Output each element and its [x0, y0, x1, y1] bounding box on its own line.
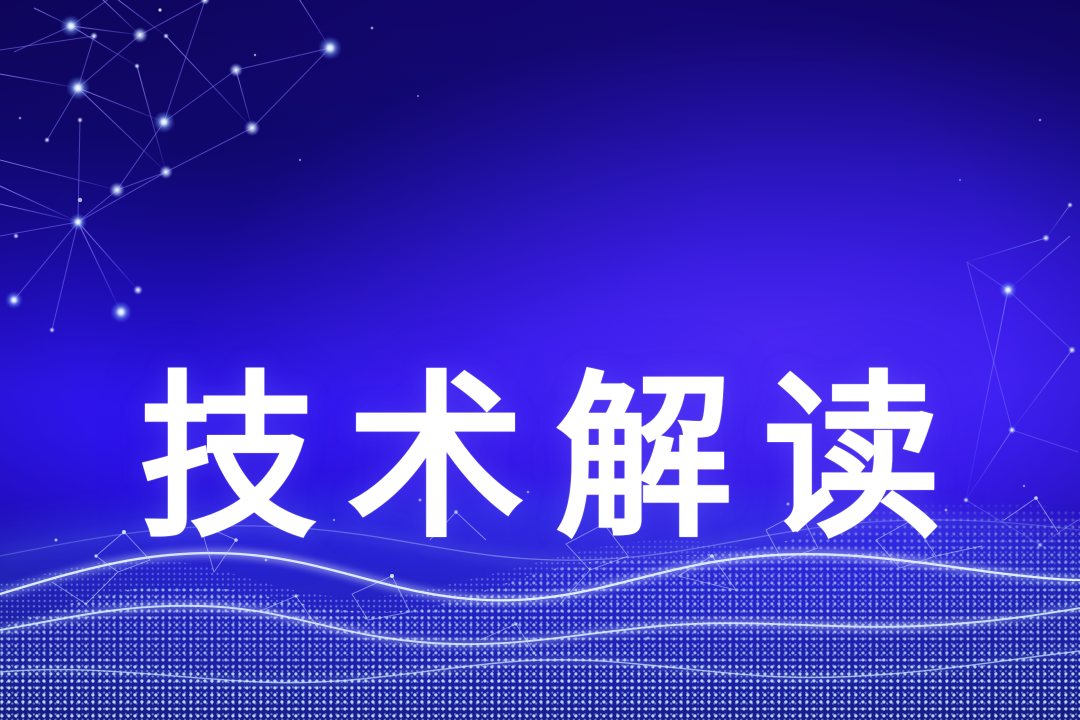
banner-canvas: 技术解读 — [0, 0, 1080, 720]
background-vignette — [0, 0, 1080, 720]
